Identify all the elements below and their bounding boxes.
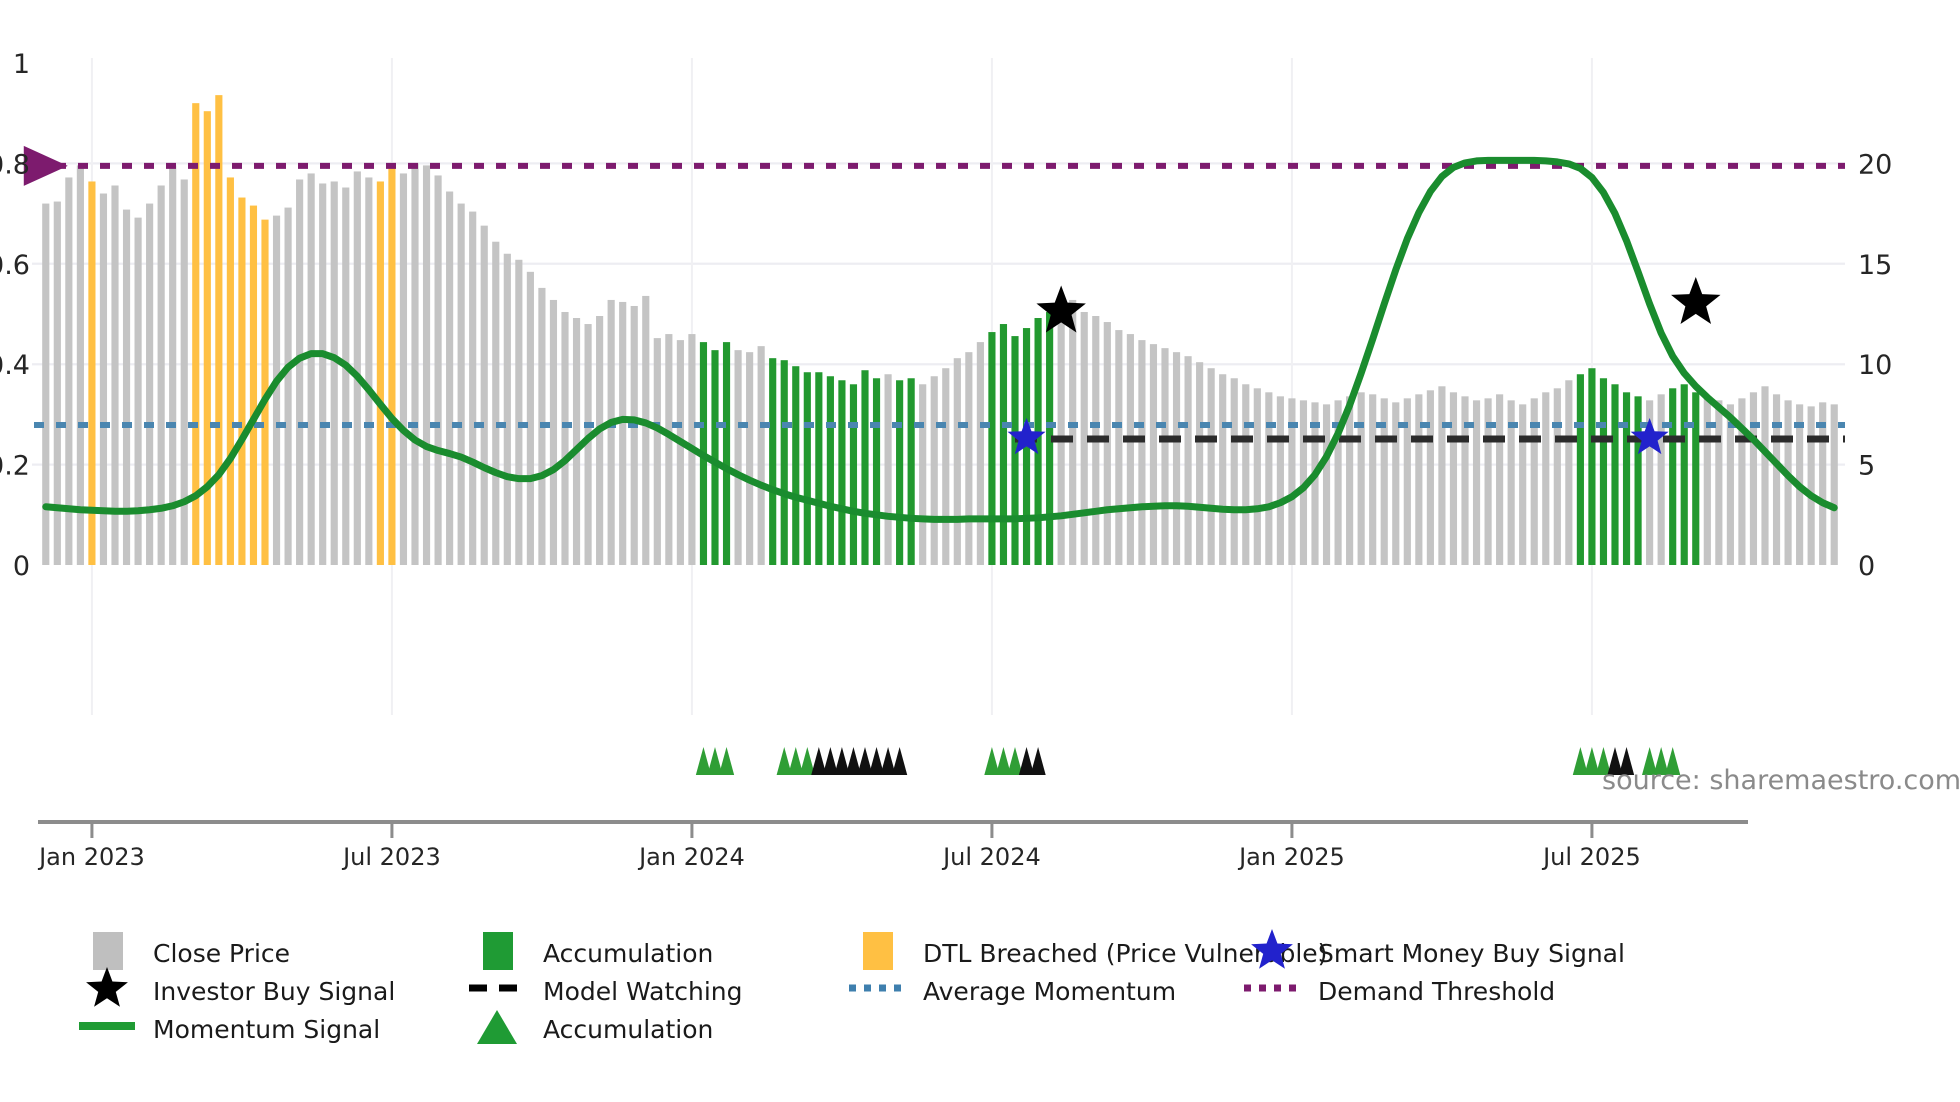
chart-page: 00.20.40.60.81 05101520 Jan 2023Jul 2023… — [0, 0, 1960, 1102]
close-price-bar — [746, 352, 753, 565]
investor-buy-signal-icon — [1671, 277, 1720, 324]
close-price-bar — [965, 352, 972, 565]
close-price-bar — [238, 198, 245, 565]
close-price-bar — [1069, 300, 1076, 565]
close-price-bar — [492, 242, 499, 565]
momentum-accumulation-chart: 00.20.40.60.81 05101520 Jan 2023Jul 2023… — [0, 0, 1960, 1102]
legend-item[interactable]: Model Watching — [469, 977, 743, 1006]
legend-label: Investor Buy Signal — [153, 977, 395, 1006]
close-price-bar — [1415, 394, 1422, 565]
close-price-bar — [815, 372, 822, 565]
x-axis-tick-label: Jul 2025 — [1541, 843, 1641, 871]
close-price-bar — [504, 254, 511, 565]
reference-lines — [34, 166, 1845, 439]
close-price-bar — [1623, 392, 1630, 565]
close-price-bar — [1104, 322, 1111, 565]
close-price-bar — [285, 208, 292, 565]
accumulation-triangle-marker — [892, 747, 907, 775]
close-price-bar — [1473, 400, 1480, 565]
close-price-bar — [550, 300, 557, 565]
close-price-bar — [792, 366, 799, 565]
legend-item[interactable]: Demand Threshold — [1244, 977, 1555, 1006]
close-price-bar — [388, 165, 395, 565]
close-price-bar — [885, 374, 892, 565]
close-price-bar — [735, 350, 742, 565]
legend-item[interactable]: Average Momentum — [849, 977, 1176, 1006]
close-price-bar — [1173, 352, 1180, 565]
demand-threshold-start-marker-icon — [24, 146, 68, 186]
close-price-bar — [308, 173, 315, 565]
close-price-bar — [838, 380, 845, 565]
accumulation-triangles — [696, 747, 1680, 775]
close-price-bar — [1185, 356, 1192, 565]
legend-item[interactable]: Close Price — [93, 932, 290, 970]
close-price-bar — [1831, 404, 1838, 565]
close-price-bar — [1196, 362, 1203, 565]
close-price-bar — [1081, 312, 1088, 565]
right-axis-tick-label: 15 — [1858, 250, 1892, 281]
close-price-bar — [758, 346, 765, 565]
close-price-bar — [861, 370, 868, 565]
legend-label: Model Watching — [543, 977, 743, 1006]
right-axis-tick-label: 10 — [1858, 350, 1892, 381]
close-price-bar — [1577, 374, 1584, 565]
close-price-bar — [204, 111, 211, 565]
close-price-bar — [1554, 388, 1561, 565]
left-axis-labels: 00.20.40.60.81 — [0, 49, 30, 582]
close-price-bar — [631, 306, 638, 565]
close-price-bar — [354, 171, 361, 565]
close-price-bar — [1519, 404, 1526, 565]
close-price-bar — [1611, 384, 1618, 565]
x-axis-tick-label: Jan 2024 — [637, 843, 745, 871]
close-price-bar — [1692, 392, 1699, 565]
close-price-bar — [1138, 340, 1145, 565]
close-price-bar — [642, 296, 649, 565]
legend-square-icon — [483, 932, 513, 970]
legend-item[interactable]: Accumulation — [483, 932, 713, 970]
legend-label: Accumulation — [543, 939, 713, 968]
close-price-bar — [1588, 368, 1595, 565]
close-price-bar — [1161, 348, 1168, 565]
close-price-bar — [342, 187, 349, 565]
close-price-bar — [400, 173, 407, 565]
legend-label: Average Momentum — [923, 977, 1176, 1006]
close-price-bar — [527, 272, 534, 565]
legend-star-icon — [86, 967, 128, 1007]
close-price-bar — [1681, 384, 1688, 565]
legend-label: Smart Money Buy Signal — [1318, 939, 1625, 968]
close-price-bar — [1565, 380, 1572, 565]
close-price-bar — [1115, 330, 1122, 565]
close-price-bar — [1600, 378, 1607, 565]
legend-item[interactable]: Investor Buy Signal — [86, 967, 395, 1007]
left-axis-tick-label: 0.6 — [0, 250, 30, 281]
close-price-bar — [1427, 390, 1434, 565]
gridlines — [32, 58, 1845, 715]
accumulation-triangle-marker — [719, 747, 734, 775]
close-price-bar — [481, 226, 488, 565]
close-price-bar — [873, 378, 880, 565]
accumulation-triangle-marker — [1030, 747, 1045, 775]
close-price-bar — [411, 163, 418, 565]
close-price-bar — [1704, 396, 1711, 565]
close-price-bar — [654, 338, 661, 565]
close-price-bar — [250, 206, 257, 565]
close-price-bar — [1496, 394, 1503, 565]
close-price-bar — [1669, 388, 1676, 565]
close-price-bar — [446, 192, 453, 565]
legend-triangle-icon — [477, 1010, 517, 1044]
left-axis-tick-label: 0.4 — [0, 350, 30, 381]
close-price-bar — [561, 312, 568, 565]
close-price-bar — [1058, 304, 1065, 565]
close-price-bar — [1450, 392, 1457, 565]
close-price-bar — [827, 376, 834, 565]
axis-lines-and-ticks — [38, 822, 1748, 838]
close-price-bar — [896, 380, 903, 565]
close-price-bar — [608, 300, 615, 565]
close-price-bar — [319, 183, 326, 565]
right-axis-tick-label: 20 — [1858, 149, 1892, 180]
x-axis-tick-label: Jan 2025 — [1237, 843, 1345, 871]
close-price-bar — [515, 260, 522, 565]
legend-label: Close Price — [153, 939, 290, 968]
close-price-bar — [919, 384, 926, 565]
close-price-bar — [1346, 396, 1353, 565]
close-price-bar — [1254, 388, 1261, 565]
x-axis-labels: Jan 2023Jul 2023Jan 2024Jul 2024Jan 2025… — [37, 843, 1641, 871]
close-price-bar — [227, 177, 234, 565]
close-price-bar — [1761, 386, 1768, 565]
close-price-bar — [988, 332, 995, 565]
source-attribution: source: sharemaestro.com — [1602, 765, 1960, 796]
x-axis-tick-label: Jan 2023 — [37, 843, 145, 871]
close-price-bar — [181, 179, 188, 565]
close-price-bar — [1127, 334, 1134, 565]
close-price-bar — [1242, 384, 1249, 565]
close-price-bar — [596, 316, 603, 565]
x-axis-tick-label: Jul 2023 — [341, 843, 441, 871]
legend-square-icon — [863, 932, 893, 970]
left-axis-tick-label: 0 — [13, 551, 30, 582]
legend-square-icon — [93, 932, 123, 970]
close-price-bar — [804, 372, 811, 565]
close-price-bar — [908, 378, 915, 565]
close-price-bar — [942, 368, 949, 565]
x-axis-tick-label: Jul 2024 — [941, 843, 1041, 871]
close-price-bar — [1658, 394, 1665, 565]
legend-item[interactable]: Accumulation — [477, 1010, 713, 1044]
close-price-bar — [77, 165, 84, 565]
close-price-bar — [723, 342, 730, 565]
close-price-bar — [435, 175, 442, 565]
legend-item[interactable]: Momentum Signal — [79, 1015, 380, 1044]
close-price-bar — [423, 165, 430, 565]
close-price-bar — [1219, 374, 1226, 565]
close-price-bar — [1208, 368, 1215, 565]
close-price-bar — [977, 342, 984, 565]
close-price-bar — [1635, 396, 1642, 565]
close-price-bar — [1000, 324, 1007, 565]
close-price-bar — [331, 181, 338, 565]
close-price-bar — [769, 358, 776, 565]
legend-label: Accumulation — [543, 1015, 713, 1044]
close-price-bar — [1369, 394, 1376, 565]
close-price-bar — [42, 204, 49, 565]
right-axis-tick-label: 0 — [1858, 551, 1875, 582]
close-price-bar — [781, 360, 788, 565]
close-price-bar — [931, 376, 938, 565]
close-price-bar — [573, 318, 580, 565]
legend-label: Momentum Signal — [153, 1015, 380, 1044]
close-price-bar — [469, 212, 476, 565]
left-axis-tick-label: 0.2 — [0, 451, 30, 482]
right-axis-tick-label: 5 — [1858, 451, 1875, 482]
close-price-bar — [1231, 378, 1238, 565]
legend-item[interactable]: DTL Breached (Price Vulnerable) — [863, 932, 1327, 970]
close-price-bar — [619, 302, 626, 565]
legend-label: Demand Threshold — [1318, 977, 1555, 1006]
close-price-bar — [1727, 404, 1734, 565]
close-price-bar — [1715, 400, 1722, 565]
close-price-bar — [365, 177, 372, 565]
close-price-bar — [665, 334, 672, 565]
left-axis-tick-label: 1 — [13, 49, 30, 80]
close-price-bar — [1438, 386, 1445, 565]
left-axis-tick-label: 0.8 — [0, 149, 30, 180]
close-price-bar — [677, 340, 684, 565]
close-price-bar — [296, 179, 303, 565]
close-price-bar — [1750, 392, 1757, 565]
close-price-bar — [850, 384, 857, 565]
close-price-bar — [1461, 396, 1468, 565]
close-price-bar — [1358, 392, 1365, 565]
close-price-bar — [377, 181, 384, 565]
close-price-bar — [1542, 392, 1549, 565]
close-price-bar — [458, 204, 465, 565]
close-price-bar — [954, 358, 961, 565]
right-axis-labels: 05101520 — [1858, 149, 1892, 582]
close-price-bar — [1277, 396, 1284, 565]
close-price-bar — [1808, 406, 1815, 565]
close-price-bar — [1150, 344, 1157, 565]
close-price-bar — [1265, 392, 1272, 565]
close-price-bar — [1323, 404, 1330, 565]
close-price-bar — [1773, 394, 1780, 565]
chart-legend: Close PriceAccumulationDTL Breached (Pri… — [79, 929, 1625, 1044]
